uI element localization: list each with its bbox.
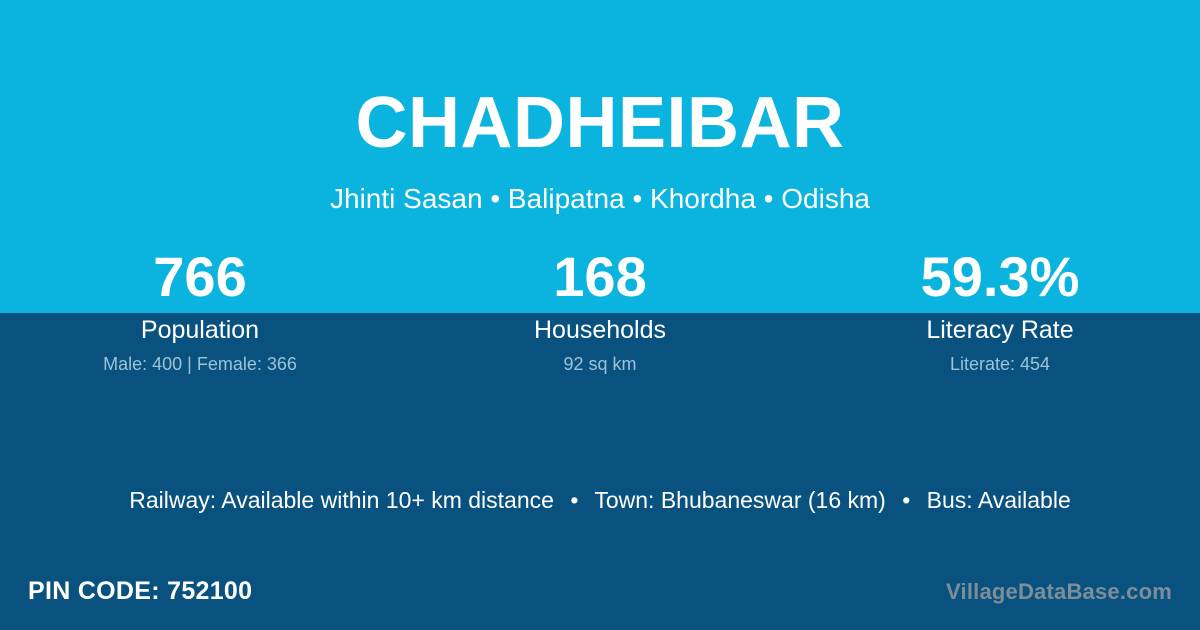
stat-label: Population [0,315,400,345]
stat-value: 59.3% [800,246,1200,308]
brand-watermark: VillageDataBase.com [946,577,1172,607]
stat-label: Households [400,315,800,345]
stat-sublabel: 92 sq km [400,352,800,376]
stat-population: 766 Population Male: 400 | Female: 366 [0,0,400,630]
stat-literacy-rate: 59.3% Literacy Rate Literate: 454 [800,0,1200,630]
stat-label: Literacy Rate [800,315,1200,345]
amenity-separator: • [892,485,920,515]
stats-row: 766 Population Male: 400 | Female: 366 1… [0,0,1200,630]
stat-value: 766 [0,246,400,308]
footer: PIN CODE: 752100 VillageDataBase.com [0,575,1200,615]
amenities-line: Railway: Available within 10+ km distanc… [0,485,1200,515]
amenity-separator: • [560,485,588,515]
stat-households: 168 Households 92 sq km [400,0,800,630]
amenity-town: Town: Bhubaneswar (16 km) [594,487,885,513]
amenity-bus: Bus: Available [927,487,1071,513]
stat-value: 168 [400,246,800,308]
stat-sublabel: Male: 400 | Female: 366 [0,352,400,376]
amenity-railway: Railway: Available within 10+ km distanc… [129,487,554,513]
stat-sublabel: Literate: 454 [800,352,1200,376]
village-info-card: CHADHEIBAR Jhinti Sasan • Balipatna • Kh… [0,0,1200,630]
pin-code: PIN CODE: 752100 [28,575,252,607]
